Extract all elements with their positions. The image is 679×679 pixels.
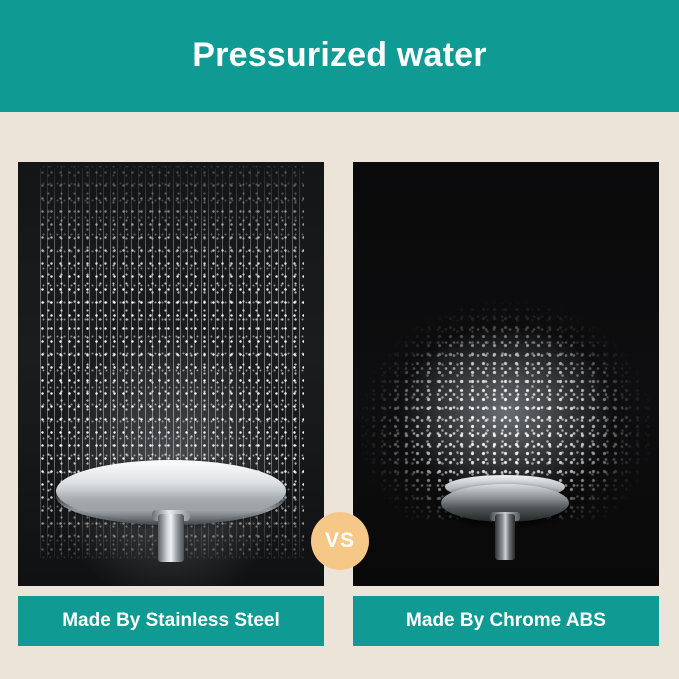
photo-stainless-steel bbox=[18, 162, 324, 586]
caption-label-left: Made By Stainless Steel bbox=[62, 610, 280, 632]
chrome-stem-graphic bbox=[495, 514, 515, 560]
vs-label: VS bbox=[325, 529, 355, 553]
product-comparison-image: Pressurized water Made By Stainless Stee… bbox=[0, 0, 679, 679]
stainless-stem-graphic bbox=[158, 514, 184, 562]
caption-bar-right: Made By Chrome ABS bbox=[353, 596, 659, 646]
header-banner: Pressurized water bbox=[0, 0, 679, 112]
comparison-area: Made By Stainless Steel Made By Chrome A… bbox=[0, 112, 679, 679]
caption-bar-left: Made By Stainless Steel bbox=[18, 596, 324, 646]
comparison-panel-left: Made By Stainless Steel bbox=[18, 162, 324, 646]
caption-label-right: Made By Chrome ABS bbox=[406, 610, 606, 632]
vs-badge: VS bbox=[311, 512, 369, 570]
comparison-panel-right: Made By Chrome ABS bbox=[353, 162, 659, 646]
photo-chrome-abs bbox=[353, 162, 659, 586]
page-title: Pressurized water bbox=[192, 37, 486, 74]
